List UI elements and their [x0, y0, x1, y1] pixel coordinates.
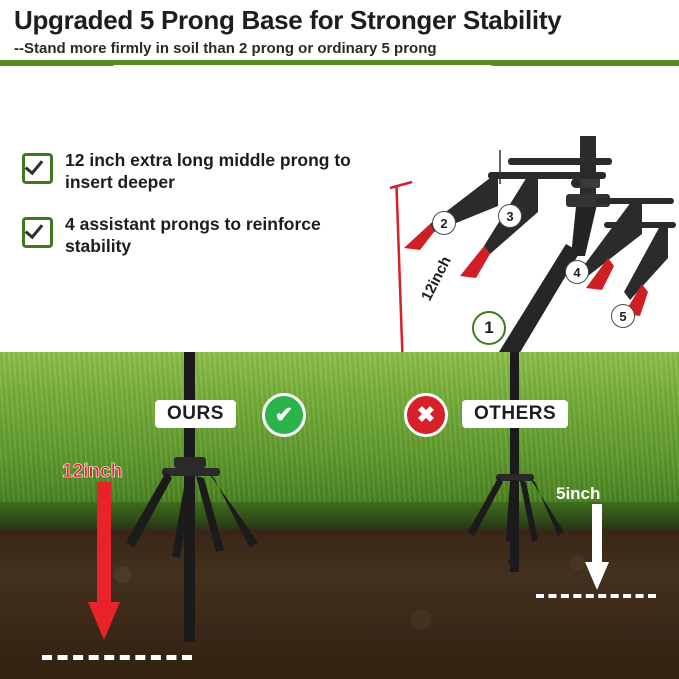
- prong-number-3: 3: [498, 204, 522, 228]
- others-depth-dashed-line: [536, 594, 656, 598]
- check-mark-icon: ✔: [262, 393, 306, 437]
- checkbox-check-icon: [22, 153, 53, 184]
- page-subtitle: --Stand more firmly in soil than 2 prong…: [14, 40, 437, 57]
- prong-number-5: 5: [611, 304, 635, 328]
- product-illustration: 1 2 3 4 5 12inch: [380, 136, 679, 352]
- ours-depth-arrow-icon: [86, 482, 126, 642]
- cross-mark-icon: ✖: [404, 393, 448, 437]
- feature-list: 12 inch extra long middle prong to inser…: [22, 150, 372, 278]
- checkbox-check-icon: [22, 217, 53, 248]
- others-depth-label: 5inch: [556, 484, 600, 504]
- ours-depth-dashed-line: [42, 655, 192, 660]
- ours-depth-label: 12inch: [62, 461, 122, 483]
- list-item: 4 assistant prongs to reinforce stabilit…: [22, 214, 372, 258]
- prong-number-2: 2: [432, 211, 456, 235]
- header: Upgraded 5 Prong Base for Stronger Stabi…: [0, 0, 679, 66]
- ours-badge: OURS: [155, 400, 236, 428]
- list-item: 12 inch extra long middle prong to inser…: [22, 150, 372, 194]
- page-title: Upgraded 5 Prong Base for Stronger Stabi…: [14, 5, 561, 36]
- prong-number-4: 4: [565, 260, 589, 284]
- product-infographic: Upgraded 5 Prong Base for Stronger Stabi…: [0, 0, 679, 679]
- others-depth-arrow-icon: [582, 504, 612, 592]
- prong-number-1: 1: [472, 311, 506, 345]
- others-badge: OTHERS: [462, 400, 568, 428]
- comparison-panel: OURS OTHERS ✔ ✖ 12inch 5inch: [0, 352, 679, 679]
- feature-text: 12 inch extra long middle prong to inser…: [65, 150, 372, 194]
- feature-text: 4 assistant prongs to reinforce stabilit…: [65, 214, 372, 258]
- feature-panel: 12 inch extra long middle prong to inser…: [0, 66, 679, 352]
